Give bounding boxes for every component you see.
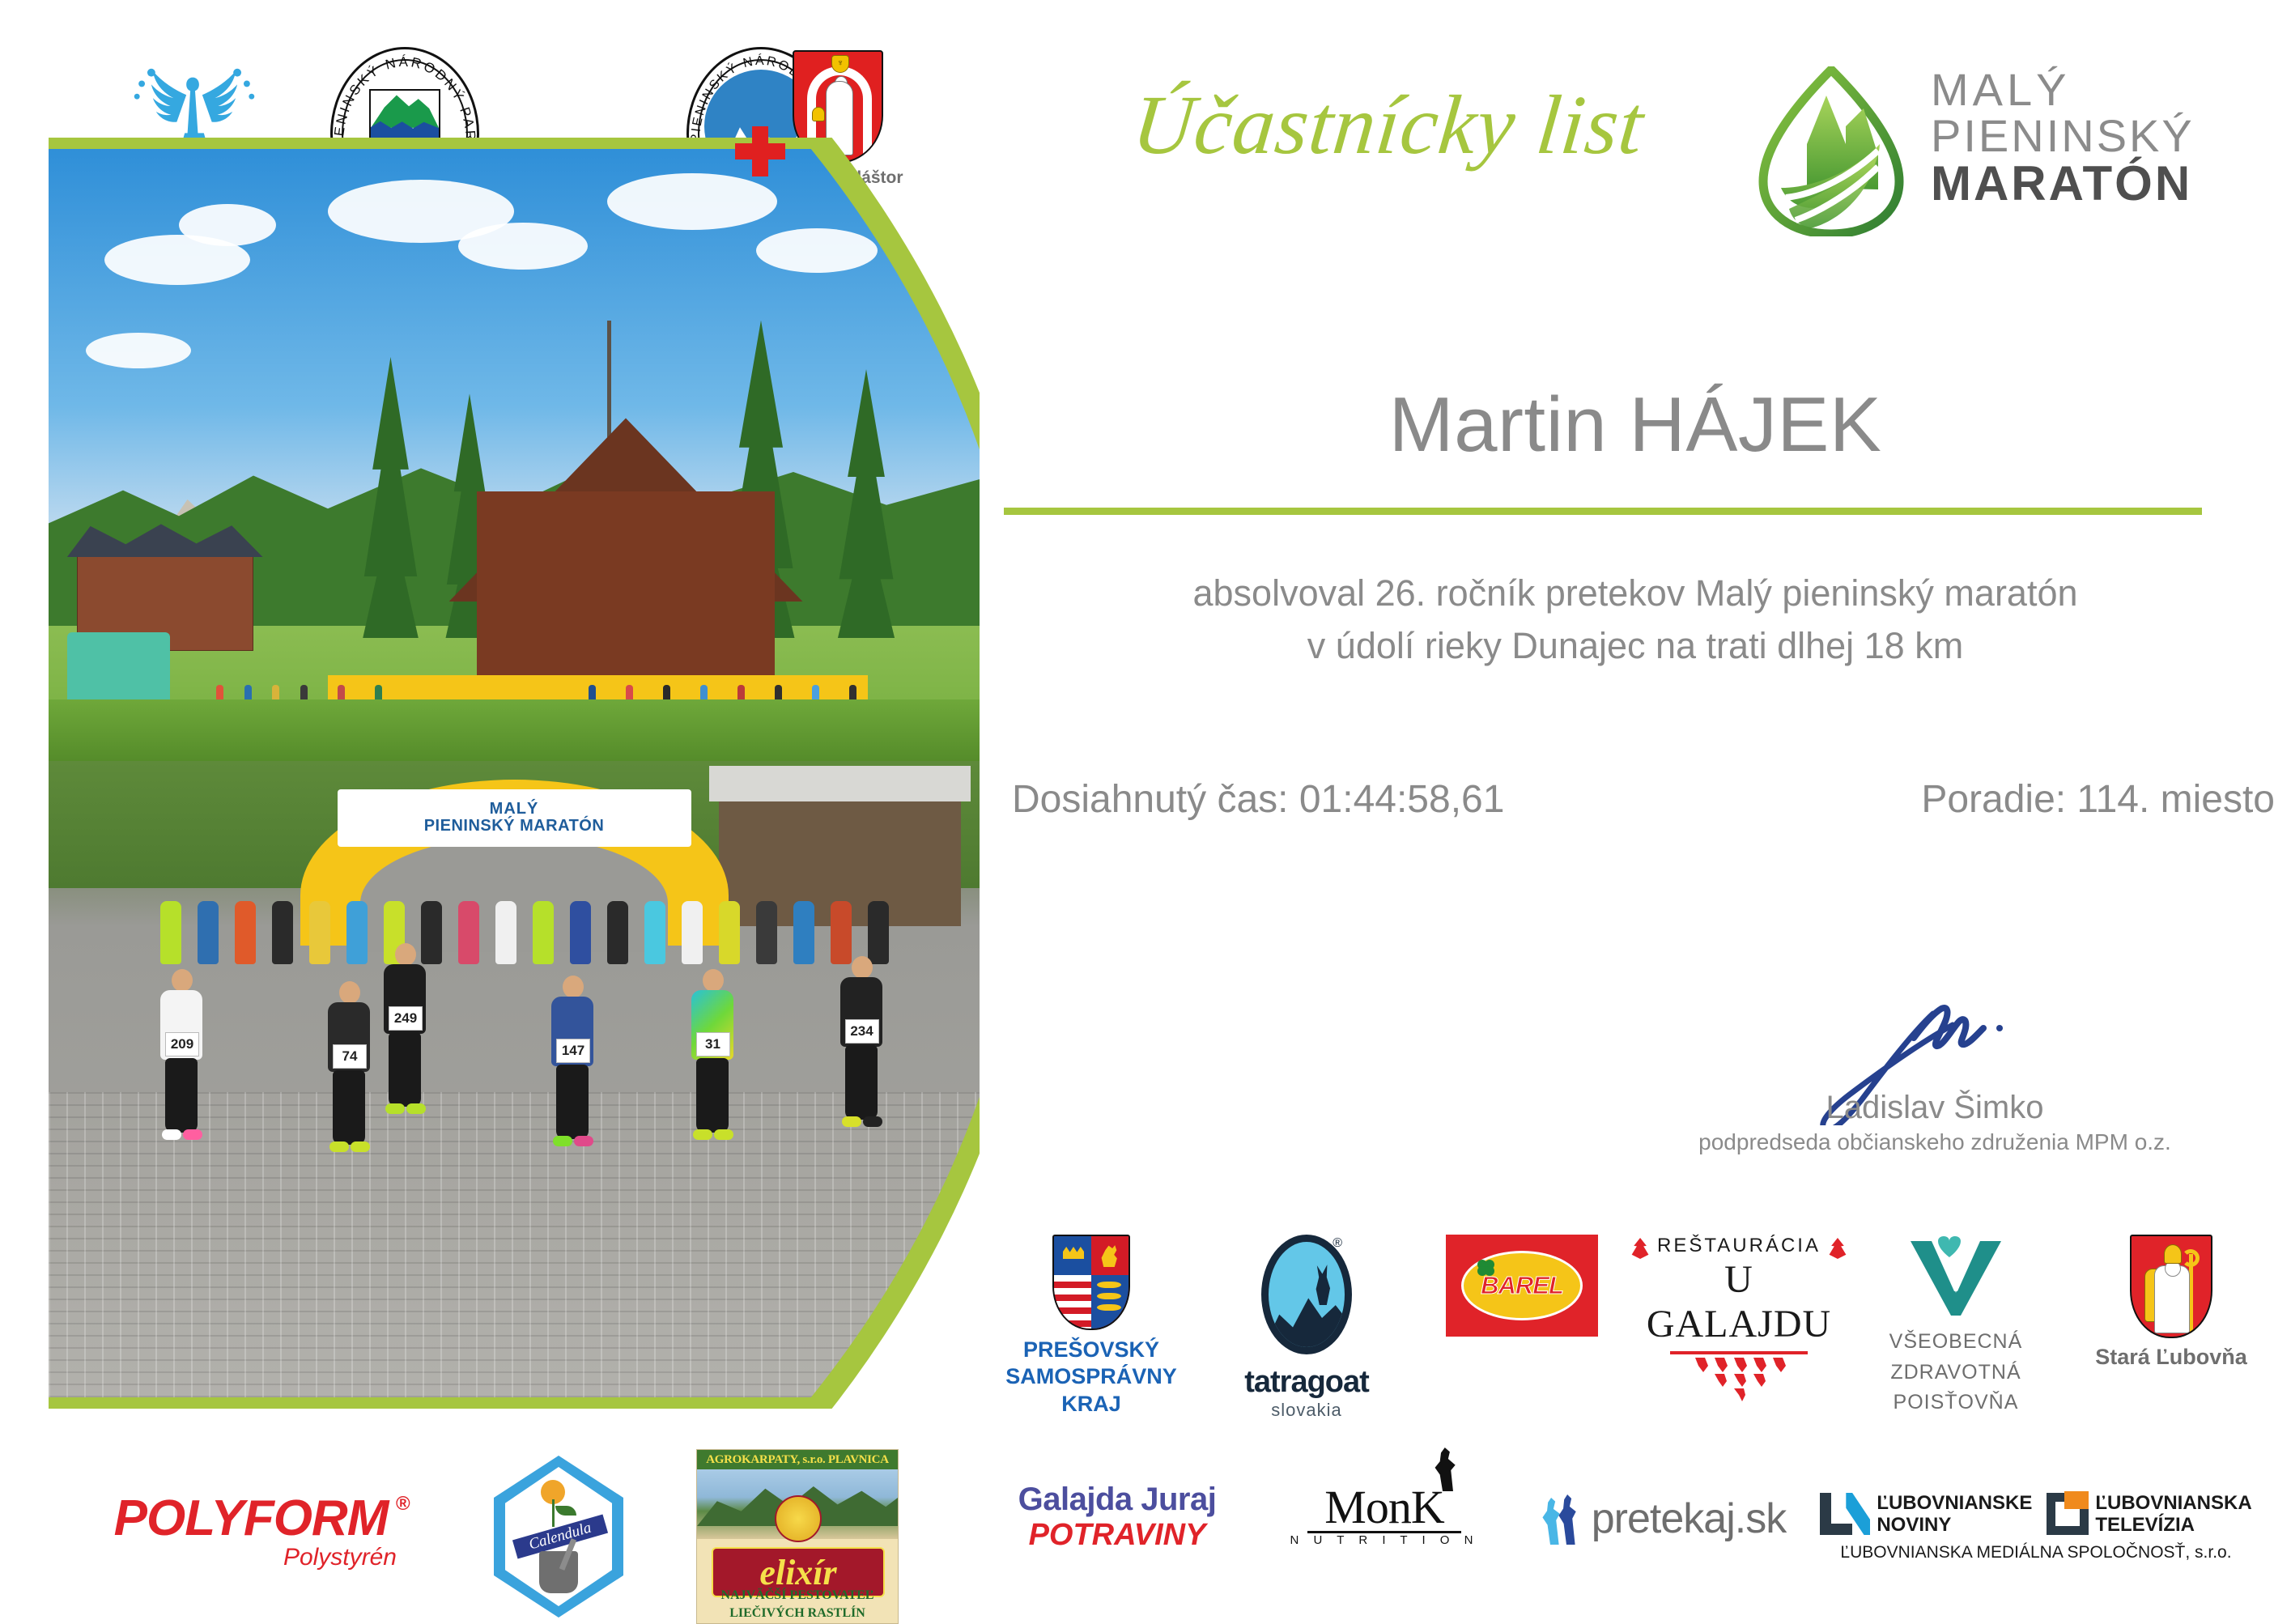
psk-label: PREŠOVSKÝ SAMOSPRÁVNY KRAJ	[984, 1337, 1199, 1418]
polyform-label: POLYFORM	[114, 1490, 389, 1546]
photo-panel: MALÝ PIENINSKÝ MARATÓN	[49, 138, 980, 1409]
psk-coat-of-arms-icon	[1052, 1235, 1130, 1330]
mpm-wordmark: MALÝ PIENINSKÝ MARATÓN	[1931, 66, 2271, 208]
page-title: Účastnícky list	[1031, 77, 1746, 173]
tatragoat-subtitle: slovakia	[1199, 1400, 1414, 1421]
green-divider	[1004, 508, 2202, 515]
certificate-stats: Dosiahnutý čas: 01:44:58,61 Poradie: 114…	[1012, 777, 2275, 822]
sponsors-row-1: PREŠOVSKÝ SAMOSPRÁVNY KRAJ ® tatragoat s…	[984, 1235, 2279, 1453]
media-logos: ĽUBOVNIANSKE NOVINY ĽUBOVNIANSKA TELEVÍZ…	[1809, 1493, 2263, 1537]
arch-banner-line-2: PIENINSKÝ MARATÓN	[424, 818, 605, 835]
lt-line-1: ĽUBOVNIANSKA	[2095, 1493, 2251, 1515]
mortar-icon	[539, 1551, 578, 1593]
rank-position: Poradie: 114. miesto	[1921, 777, 2275, 822]
barel-logo: BAREL	[1446, 1235, 1598, 1337]
crozier-crook	[2182, 1249, 2200, 1267]
signatory-role: podpredseda občianskeho združenia MPM o.…	[1603, 1129, 2267, 1155]
crown-icon	[1063, 1247, 1084, 1259]
photo-stack: MALÝ PIENINSKÝ MARATÓN	[49, 149, 980, 1397]
sponsor-presovsky-samospravny-kraj: PREŠOVSKÝ SAMOSPRÁVNY KRAJ	[984, 1235, 1199, 1418]
u-galajdu-top: REŠTAURÁCIA	[1657, 1235, 1821, 1257]
goat-icon	[1311, 1263, 1335, 1305]
sponsor-vseobecna-zdravotna-poistovna: VŠEOBECNÁ ZDRAVOTNÁ POISŤOVŇA	[1848, 1235, 2064, 1418]
arch-banner: MALÝ PIENINSKÝ MARATÓN	[338, 789, 691, 847]
mpm-line-3: MARATÓN	[1931, 159, 2271, 208]
runner-icon	[1541, 1498, 1564, 1545]
mpm-line-2: PIENINSKÝ	[1931, 113, 2271, 159]
signature-block: Ladislav Šimko podpredseda občianskeho z…	[1603, 996, 2267, 1155]
scene-photo	[49, 149, 980, 761]
mpm-line-1: MALÝ	[1931, 66, 2271, 113]
psk-line-1: PREŠOVSKÝ	[984, 1337, 1199, 1363]
stara-lubovna-coat-of-arms-icon	[2130, 1235, 2212, 1338]
sponsor-restauracia-u-galajdu: REŠTAURÁCIA U GALAJDU	[1630, 1235, 1848, 1401]
polyform-wordmark: POLYFORM ®	[114, 1490, 389, 1547]
psk-line-3: KRAJ	[984, 1391, 1199, 1418]
pretekaj-label: pretekaj.sk	[1592, 1494, 1786, 1543]
certificate-body: absolvoval 26. ročník pretekov Malý pien…	[1004, 567, 2267, 673]
fish-icon	[1097, 1282, 1121, 1288]
galajda-line-2: POTRAVINY	[984, 1518, 1251, 1553]
sponsor-tatragoat: ® tatragoat slovakia	[1199, 1235, 1414, 1421]
sponsor-lubovnianska-medialna-spolocnost: ĽUBOVNIANSKE NOVINY ĽUBOVNIANSKA TELEVÍZ…	[1809, 1482, 2263, 1562]
runner-bib: 209	[165, 1032, 199, 1056]
runner-bib: 31	[696, 1032, 730, 1056]
vzp-label: VŠEOBECNÁ ZDRAVOTNÁ POISŤOVŇA	[1848, 1327, 2064, 1418]
fish-icon	[1097, 1304, 1121, 1311]
elixir-footer: NAJVÄČŠÍ PESTOVATEĽ LIEČIVÝCH RASTLÍN	[697, 1587, 898, 1622]
sponsor-polyform: POLYFORM ® Polystyrén	[81, 1490, 421, 1571]
ltv-logo-icon	[2047, 1493, 2089, 1535]
ln-line-2: NOVINY	[1877, 1515, 2032, 1537]
runner-bib: 249	[389, 1006, 423, 1031]
mpm-leaf-mountain-icon	[1757, 66, 1906, 236]
vzp-line-2: ZDRAVOTNÁ	[1848, 1358, 2064, 1388]
elixir-footer-line-1: NAJVÄČŠÍ PESTOVATEĽ	[697, 1587, 898, 1604]
runner-icon	[1558, 1494, 1580, 1545]
ln-logo-icon	[1820, 1493, 1870, 1535]
crest-shape: ♆	[831, 55, 849, 73]
vzp-v-icon	[1907, 1235, 2004, 1319]
lt-line-2: TELEVÍZIA	[2095, 1515, 2251, 1537]
lubovnianska-televizia-label: ĽUBOVNIANSKA TELEVÍZIA	[2095, 1493, 2251, 1537]
agrokarpaty-header: AGROKARPATY, s.r.o. PLAVNICA	[697, 1450, 898, 1469]
certificate-body-line-1: absolvoval 26. ročník pretekov Malý pien…	[1004, 567, 2267, 619]
stem-shape	[552, 1499, 555, 1527]
grass-field	[49, 699, 980, 761]
registered-icon: ®	[396, 1493, 410, 1516]
certificate-body-line-2: v údolí rieky Dunajec na trati dlhej 18 …	[1004, 619, 2267, 672]
mpm-logo: MALÝ PIENINSKÝ MARATÓN	[1741, 49, 2275, 235]
calendula-hex-icon: Calendula	[494, 1456, 623, 1618]
monk-label: MonK	[1290, 1485, 1479, 1529]
elixir-panel: AGROKARPATY, s.r.o. PLAVNICA elixír NAJV…	[696, 1449, 899, 1624]
vzp-line-1: VŠEOBECNÁ	[1848, 1327, 2064, 1358]
angel-icon	[89, 57, 300, 150]
finish-time: Dosiahnutý čas: 01:44:58,61	[1012, 777, 1504, 822]
sponsors-row-2: Galajda Juraj POTRAVINY MonK N U T R I T…	[984, 1482, 2279, 1611]
sponsor-monk-nutrition: MonK N U T R I T I O N	[1251, 1482, 1518, 1548]
media-company-footer: ĽUBOVNIANSKA MEDIÁLNA SPOLOČNOSŤ, s.r.o.	[1809, 1543, 2263, 1562]
sponsor-agrokarpaty-elixir: AGROKARPATY, s.r.o. PLAVNICA elixír NAJV…	[696, 1449, 899, 1624]
red-cross-icon	[735, 126, 785, 176]
divider	[1670, 1351, 1808, 1354]
clover-icon	[1475, 1258, 1496, 1279]
race-start-photo: MALÝ PIENINSKÝ MARATÓN	[49, 761, 980, 1397]
bishop-mitre	[2164, 1244, 2182, 1264]
arch-banner-line-1: MALÝ	[490, 801, 539, 818]
stara-lubovna-label: Stará Ľubovňa	[2064, 1345, 2279, 1370]
registered-icon: ®	[1333, 1236, 1342, 1251]
psk-line-2: SAMOSPRÁVNY	[984, 1363, 1199, 1390]
bell-icon	[812, 107, 825, 121]
lubovnianske-noviny-label: ĽUBOVNIANSKE NOVINY	[1877, 1493, 2032, 1537]
ln-line-1: ĽUBOVNIANSKE	[1877, 1493, 2032, 1515]
tatragoat-emblem-icon	[1261, 1235, 1352, 1354]
sponsor-calendula: Calendula	[486, 1456, 631, 1618]
monk-subtitle: N U T R I T I O N	[1290, 1533, 1479, 1547]
sponsor-stara-lubovna: Stará Ľubovňa	[2064, 1235, 2279, 1370]
photo-green-frame: MALÝ PIENINSKÝ MARATÓN	[49, 138, 980, 1409]
folk-ornament-icon	[1690, 1358, 1787, 1401]
polyform-subtitle: Polystyrén	[81, 1544, 421, 1571]
participant-name: Martin HÁJEK	[1004, 380, 2267, 470]
barel-oval: BAREL	[1461, 1251, 1583, 1320]
signatory-name: Ladislav Šimko	[1603, 1090, 2267, 1126]
tatragoat-label: tatragoat	[1199, 1365, 1414, 1400]
runner-bib: 234	[845, 1019, 879, 1044]
leaf-shape	[555, 1506, 576, 1516]
sponsor-galajda-juraj-potraviny: Galajda Juraj POTRAVINY	[984, 1482, 1251, 1553]
runner-bib: 147	[556, 1039, 590, 1063]
fish-icon	[1097, 1293, 1121, 1299]
sponsor-barel: BAREL	[1414, 1235, 1630, 1337]
elixir-seal-icon	[775, 1495, 822, 1542]
pavilion-stage	[477, 491, 775, 675]
runner-bib: 74	[333, 1044, 367, 1069]
sponsors-left: POLYFORM ® Polystyrén Calendula AGROKARP…	[57, 1368, 980, 1611]
vzp-line-3: POISŤOVŇA	[1848, 1388, 2064, 1418]
u-galajdu-label: U GALAJDU	[1630, 1257, 1848, 1346]
mountain-shape	[1264, 1289, 1352, 1347]
galajda-line-1: Galajda Juraj	[984, 1482, 1251, 1518]
sponsor-pretekaj-sk: pretekaj.sk	[1518, 1482, 1809, 1543]
